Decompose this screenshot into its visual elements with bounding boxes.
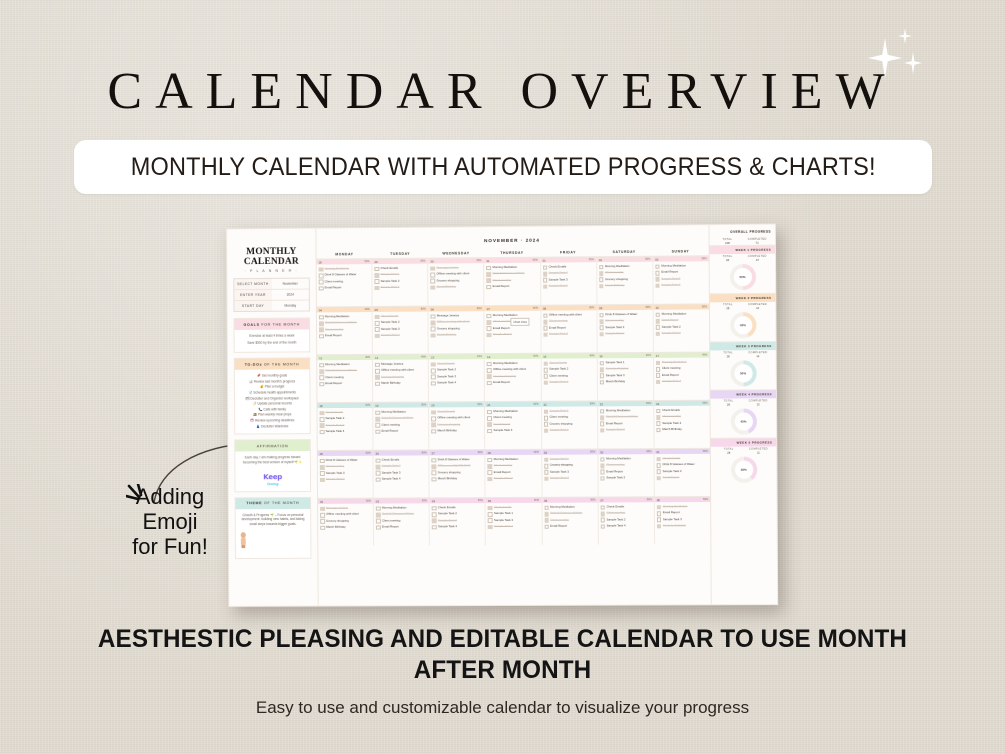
- task-checkbox[interactable]: [432, 458, 437, 463]
- task-item[interactable]: Sample Task 4: [375, 333, 426, 339]
- task-checkbox[interactable]: [487, 285, 492, 290]
- task-item[interactable]: Client meeting: [487, 415, 538, 420]
- calendar-preview-card[interactable]: MONTHLY CALENDAR · P L A N N E R · SELEC…: [226, 224, 778, 607]
- task-checkbox[interactable]: [487, 374, 492, 379]
- task-checkbox[interactable]: [543, 313, 548, 318]
- task-checkbox[interactable]: [375, 315, 380, 320]
- task-item[interactable]: Sample Task 3: [656, 469, 707, 474]
- calendar-day-cell[interactable]: 2450%Check EmailsClient meetingSample Ta…: [654, 401, 710, 448]
- task-checkbox[interactable]: [376, 513, 381, 518]
- task-item[interactable]: Sample Task 2: [543, 331, 594, 337]
- task-checkbox[interactable]: [544, 457, 549, 462]
- task-checkbox[interactable]: [600, 511, 605, 516]
- task-checkbox[interactable]: [319, 286, 324, 291]
- task-item[interactable]: Client meeting: [656, 366, 707, 372]
- task-checkbox[interactable]: [487, 381, 492, 386]
- task-item[interactable]: Grocery shopping: [431, 278, 482, 284]
- task-checkbox[interactable]: [431, 416, 436, 421]
- task-checkbox[interactable]: [487, 333, 492, 338]
- task-checkbox[interactable]: [431, 429, 436, 434]
- calendar-day-cell[interactable]: 0350%Morning MeditationDrink 8 Glasses o…: [374, 498, 430, 545]
- task-checkbox[interactable]: [432, 471, 437, 476]
- task-item[interactable]: Grocery shopping: [600, 366, 651, 372]
- task-item[interactable]: Sample Task 3: [600, 427, 651, 432]
- task-item[interactable]: Sample Task 4: [488, 476, 539, 481]
- task-checkbox[interactable]: [487, 362, 492, 367]
- task-item[interactable]: Sample Task 3: [655, 276, 706, 282]
- task-item[interactable]: Sample Task 3: [488, 518, 539, 523]
- task-checkbox[interactable]: [430, 266, 435, 271]
- form-value[interactable]: 2024: [272, 290, 309, 300]
- task-checkbox[interactable]: [600, 380, 605, 385]
- task-item[interactable]: Sample Task 4: [544, 428, 595, 433]
- task-item[interactable]: Check Emails: [600, 504, 651, 509]
- task-item[interactable]: Sample Task 2: [320, 416, 371, 421]
- task-checkbox[interactable]: [488, 477, 493, 482]
- task-checkbox[interactable]: [655, 277, 660, 282]
- task-checkbox[interactable]: [319, 369, 324, 374]
- task-checkbox[interactable]: [487, 416, 492, 421]
- task-checkbox[interactable]: [600, 470, 605, 475]
- task-item[interactable]: Sample Task 4: [320, 477, 371, 482]
- task-item[interactable]: Sample Task 2: [656, 421, 707, 427]
- task-item[interactable]: Morning Meditation: [319, 362, 370, 368]
- task-item[interactable]: Check Emails: [374, 266, 425, 272]
- task-item[interactable]: Check Emails: [543, 360, 594, 366]
- task-checkbox[interactable]: [600, 422, 605, 427]
- task-checkbox[interactable]: [376, 465, 381, 470]
- goal-item[interactable]: Save $500 by the end of the month: [238, 341, 307, 346]
- form-value[interactable]: Monday: [272, 301, 309, 311]
- task-item[interactable]: Morning Meditation: [656, 360, 707, 366]
- calendar-day-cell[interactable]: 1950%Morning MeditationDrink 8 Glasses o…: [373, 402, 429, 449]
- task-checkbox[interactable]: [319, 273, 324, 278]
- task-checkbox[interactable]: [320, 471, 325, 476]
- task-item[interactable]: Offline meeting with client: [487, 367, 538, 373]
- calendar-day-cell[interactable]: 1140%Morning MeditationDrink 8 Glasses o…: [317, 355, 373, 402]
- task-item[interactable]: Grocery shopping: [431, 326, 482, 332]
- task-checkbox[interactable]: [432, 512, 437, 517]
- task-item[interactable]: Sample Task 4: [375, 285, 426, 291]
- todo-item[interactable]: 📌 Set monthly goals: [238, 374, 307, 378]
- goal-item[interactable]: Exercise at least 4 times a week: [238, 333, 307, 338]
- todo-item[interactable]: ⏰ Review upcoming deadlines: [238, 418, 307, 422]
- task-item[interactable]: Sample Task 4: [488, 524, 539, 529]
- task-item[interactable]: Grocery shopping: [544, 463, 595, 468]
- task-item[interactable]: Sample Task 3: [544, 469, 595, 474]
- calendar-day-cell[interactable]: 2350%Morning MeditationDrink 8 Glasses o…: [598, 401, 655, 448]
- task-checkbox[interactable]: [432, 519, 437, 524]
- task-checkbox[interactable]: [430, 273, 435, 278]
- task-checkbox[interactable]: [544, 476, 549, 481]
- calendar-day-cell[interactable]: 2660%Check EmailsSample Task 2Sample Tas…: [374, 450, 430, 497]
- task-item[interactable]: Drink 8 Glasses of Water: [544, 511, 595, 516]
- task-checkbox[interactable]: [431, 314, 436, 319]
- task-item[interactable]: Grocery shopping: [599, 277, 650, 283]
- calendar-day-cell[interactable]: 0860%Offline meeting with clientClient m…: [541, 305, 598, 352]
- task-item[interactable]: Grocery shopping: [657, 523, 708, 528]
- task-checkbox[interactable]: [657, 476, 662, 481]
- task-checkbox[interactable]: [375, 423, 380, 428]
- calendar-day-cell[interactable]: 2050%Check EmailsOffline meeting with cl…: [429, 402, 485, 449]
- task-checkbox[interactable]: [656, 319, 661, 324]
- task-checkbox[interactable]: [319, 382, 324, 387]
- task-checkbox[interactable]: [599, 265, 604, 270]
- task-checkbox[interactable]: [376, 506, 381, 511]
- task-item[interactable]: Drink 8 Glasses of Water: [319, 272, 370, 278]
- task-item[interactable]: Morning Meditation: [487, 361, 538, 367]
- task-checkbox[interactable]: [487, 278, 492, 283]
- task-checkbox[interactable]: [487, 266, 492, 271]
- task-item[interactable]: Check Emails: [376, 457, 427, 462]
- task-checkbox[interactable]: [376, 525, 381, 530]
- task-item[interactable]: Sample Task 4: [543, 380, 594, 386]
- task-checkbox[interactable]: [375, 429, 380, 434]
- task-checkbox[interactable]: [375, 279, 380, 284]
- task-item[interactable]: Morning Meditation: [599, 264, 650, 270]
- task-item[interactable]: Sample Task 2: [431, 368, 482, 374]
- task-item[interactable]: Check Emails: [319, 410, 370, 415]
- calendar-day-cell[interactable]: 0750%Check EmailsClient meetingSample Ta…: [598, 497, 655, 544]
- task-item[interactable]: Offline meeting with client: [431, 415, 482, 420]
- task-item[interactable]: Offline meeting with client: [432, 463, 483, 468]
- task-item[interactable]: Grocery shopping: [487, 373, 538, 379]
- calendar-day-cell[interactable]: 1640%Sample Task 1Grocery shoppingSample…: [597, 353, 654, 400]
- task-checkbox[interactable]: [487, 410, 492, 415]
- task-item[interactable]: Client meeting: [320, 464, 371, 469]
- task-checkbox[interactable]: [431, 423, 436, 428]
- task-checkbox[interactable]: [656, 421, 661, 426]
- calendar-day-cell[interactable]: 2960%Sample Task 1Grocery shoppingSample…: [542, 449, 599, 496]
- task-checkbox[interactable]: [320, 423, 325, 428]
- calendar-day-cell[interactable]: 3050%Message JessicaOffline meeting with…: [428, 258, 484, 305]
- calendar-day-cell[interactable]: 0550%Check EmailsSample Task 1Sample Tas…: [486, 498, 542, 545]
- task-item[interactable]: Email Report: [488, 470, 539, 475]
- task-item[interactable]: Email Report: [600, 469, 651, 474]
- todo-item[interactable]: 🍱 Plan weekly meal preps: [238, 413, 307, 417]
- task-checkbox[interactable]: [487, 368, 492, 373]
- task-checkbox[interactable]: [431, 333, 436, 338]
- calendar-day-cell[interactable]: 1440%Morning MeditationOffline meeting w…: [485, 354, 541, 401]
- task-item[interactable]: Drink 8 Glasses of Water: [319, 368, 370, 374]
- task-item[interactable]: Email Report: [656, 372, 707, 378]
- task-checkbox[interactable]: [319, 315, 324, 320]
- calendar-day-cell[interactable]: 3150%Morning MeditationDrink 8 Glasses o…: [484, 258, 540, 305]
- task-checkbox[interactable]: [488, 464, 493, 469]
- task-checkbox[interactable]: [488, 506, 493, 511]
- task-checkbox[interactable]: [431, 327, 436, 332]
- task-checkbox[interactable]: [375, 369, 380, 374]
- task-checkbox[interactable]: [320, 478, 325, 483]
- task-checkbox[interactable]: [656, 367, 661, 372]
- task-item[interactable]: Email Report: [487, 422, 538, 427]
- task-checkbox[interactable]: [488, 458, 493, 463]
- task-item[interactable]: Sample Task 3: [320, 470, 371, 475]
- task-checkbox[interactable]: [600, 524, 605, 529]
- calendar-day-cell[interactable]: 2950%Check EmailsSample Task 1Sample Tas…: [372, 259, 428, 306]
- task-item[interactable]: Sample Task 2: [432, 511, 483, 516]
- calendar-day-cell[interactable]: 0450%Check EmailsSample Task 2Sample Tas…: [430, 498, 486, 545]
- task-item[interactable]: Email Report: [319, 381, 370, 387]
- task-checkbox[interactable]: [543, 332, 548, 337]
- task-item[interactable]: Grocery shopping: [544, 421, 595, 426]
- task-checkbox[interactable]: [432, 525, 437, 530]
- task-checkbox[interactable]: [375, 417, 380, 422]
- task-item[interactable]: Sample Task 4: [432, 524, 483, 529]
- calendar-day-cell[interactable]: 1340%Check EmailsSample Task 2Sample Tas…: [429, 354, 485, 401]
- task-checkbox[interactable]: [656, 415, 661, 420]
- calendar-day-cell[interactable]: 1540%Check EmailsSample Task 2Client mee…: [541, 353, 598, 400]
- task-checkbox[interactable]: [656, 409, 661, 414]
- task-item[interactable]: Email Report: [487, 284, 538, 290]
- task-checkbox[interactable]: [600, 374, 605, 379]
- task-checkbox[interactable]: [600, 409, 605, 414]
- task-item[interactable]: March Birthday: [375, 381, 426, 387]
- task-checkbox[interactable]: [599, 361, 604, 366]
- calendar-day-cell[interactable]: 1060%Morning MeditationEmail ReportSampl…: [653, 304, 709, 352]
- task-item[interactable]: Sample Task 2: [656, 324, 707, 330]
- task-checkbox[interactable]: [544, 416, 549, 421]
- task-item[interactable]: Sample Task 4: [656, 331, 707, 337]
- task-checkbox[interactable]: [488, 429, 493, 434]
- task-checkbox[interactable]: [657, 511, 662, 516]
- task-item[interactable]: Grocery shopping: [431, 422, 482, 427]
- task-checkbox[interactable]: [543, 320, 548, 325]
- calendar-day-cell[interactable]: 0760%Morning MeditationClient meetingEma…: [485, 306, 541, 353]
- task-checkbox[interactable]: [320, 417, 325, 422]
- task-item[interactable]: March Birthday: [600, 379, 651, 385]
- task-checkbox[interactable]: [375, 382, 380, 387]
- task-item[interactable]: Drink 8 Glasses of Water: [320, 458, 371, 463]
- calendar-day-cell[interactable]: 0650%Morning MeditationDrink 8 Glasses o…: [542, 498, 599, 545]
- calendar-day-cell[interactable]: 0250%Morning MeditationClient meetingGro…: [597, 257, 654, 305]
- calendar-day-cell[interactable]: 2760%Drink 8 Glasses of WaterOffline mee…: [430, 450, 486, 497]
- task-checkbox[interactable]: [544, 409, 549, 414]
- task-item[interactable]: Drink 8 Glasses of Water: [600, 414, 651, 420]
- task-checkbox[interactable]: [656, 325, 661, 330]
- task-item[interactable]: Check Emails: [656, 456, 707, 461]
- task-checkbox[interactable]: [319, 280, 324, 285]
- task-item[interactable]: Sample Task 4: [487, 332, 538, 338]
- task-item[interactable]: Sample Task 3: [600, 373, 651, 379]
- task-item[interactable]: Client meeting: [656, 414, 707, 420]
- task-item[interactable]: Sample Task 1: [544, 408, 595, 414]
- task-item[interactable]: Drink 8 Glasses of Water: [656, 462, 707, 467]
- task-checkbox[interactable]: [600, 518, 605, 523]
- task-item[interactable]: Check Emails: [656, 408, 707, 414]
- task-item[interactable]: Drink 8 Glasses of Water: [376, 512, 427, 517]
- task-item[interactable]: March Birthday: [599, 283, 650, 289]
- task-checkbox[interactable]: [655, 271, 660, 276]
- task-item[interactable]: March Birthday: [431, 428, 482, 433]
- task-checkbox[interactable]: [320, 465, 325, 470]
- calendar-day-cell[interactable]: 0560%Check EmailsSample Task 2Sample Tas…: [373, 307, 429, 354]
- task-item[interactable]: Client meeting: [319, 279, 370, 285]
- task-item[interactable]: Sample Task 4: [655, 282, 706, 288]
- task-item[interactable]: Sample Task 4: [544, 476, 595, 481]
- task-checkbox[interactable]: [431, 375, 436, 380]
- task-item[interactable]: Client meeting: [543, 319, 594, 325]
- task-checkbox[interactable]: [544, 512, 549, 517]
- task-item[interactable]: Message Jessica: [431, 313, 482, 319]
- task-checkbox[interactable]: [656, 463, 661, 468]
- task-checkbox[interactable]: [319, 334, 324, 339]
- task-item[interactable]: Email Report: [656, 318, 707, 324]
- calendar-day-cell[interactable]: 2860%Morning MeditationClient meetingEma…: [486, 450, 542, 497]
- task-checkbox[interactable]: [544, 525, 549, 530]
- task-checkbox[interactable]: [375, 273, 380, 278]
- task-checkbox[interactable]: [656, 428, 661, 433]
- calendar-day-cell[interactable]: 1240%Message JessicaOffline meeting with…: [373, 355, 429, 402]
- task-item[interactable]: Email Report: [375, 429, 426, 434]
- task-checkbox[interactable]: [600, 457, 605, 462]
- task-item[interactable]: Message Jessica: [320, 506, 371, 511]
- task-checkbox[interactable]: [319, 328, 324, 333]
- task-checkbox[interactable]: [657, 518, 662, 523]
- task-item[interactable]: Grocery shopping: [320, 518, 371, 523]
- task-item[interactable]: Message Jessica: [430, 265, 481, 271]
- task-checkbox[interactable]: [543, 374, 548, 379]
- calendar-day-cell[interactable]: 2250%Sample Task 1Client meetingGrocery …: [541, 401, 598, 448]
- task-item[interactable]: Drink 8 Glasses of Water: [319, 320, 370, 326]
- task-checkbox[interactable]: [543, 361, 548, 366]
- task-checkbox[interactable]: [320, 430, 325, 435]
- task-checkbox[interactable]: [488, 525, 493, 530]
- task-item[interactable]: Email Report: [655, 270, 706, 276]
- calendar-day-cell[interactable]: 0850%Morning MeditationEmail ReportSampl…: [655, 497, 711, 544]
- calendar-day-cell[interactable]: 2850%Morning MeditationDrink 8 Glasses o…: [317, 259, 373, 306]
- task-item[interactable]: Sample Task 2: [376, 464, 427, 469]
- task-checkbox[interactable]: [599, 271, 604, 276]
- task-checkbox[interactable]: [543, 265, 548, 270]
- task-checkbox[interactable]: [320, 526, 325, 531]
- task-checkbox[interactable]: [375, 327, 380, 332]
- task-checkbox[interactable]: [544, 422, 549, 427]
- task-checkbox[interactable]: [431, 279, 436, 284]
- todo-item[interactable]: 📝 Update personal records: [238, 401, 307, 405]
- calendar-day-cell[interactable]: 0660%Message JessicaOffline meeting with…: [429, 306, 485, 353]
- task-checkbox[interactable]: [488, 518, 493, 523]
- task-checkbox[interactable]: [375, 321, 380, 326]
- task-item[interactable]: Morning Meditation: [657, 504, 708, 509]
- task-item[interactable]: Morning Meditation: [375, 409, 426, 414]
- task-item[interactable]: Client meeting: [599, 318, 650, 324]
- task-checkbox[interactable]: [600, 505, 605, 510]
- todo-item[interactable]: 📊 Review last month's progress: [238, 379, 307, 383]
- task-checkbox[interactable]: [319, 363, 324, 368]
- todo-item[interactable]: 🗂 Declutter and Organize workspace: [238, 396, 307, 400]
- task-item[interactable]: Drink 8 Glasses of Water: [375, 416, 426, 421]
- task-checkbox[interactable]: [657, 524, 662, 529]
- task-checkbox[interactable]: [599, 284, 604, 289]
- task-item[interactable]: Sample Task 3: [376, 470, 427, 475]
- task-item[interactable]: Sample Task 2: [600, 475, 651, 480]
- task-item[interactable]: Sample Task 1: [375, 272, 426, 278]
- task-item[interactable]: Sample Task 4: [488, 428, 539, 433]
- task-item[interactable]: Email Report: [544, 524, 595, 529]
- task-checkbox[interactable]: [600, 415, 605, 420]
- task-item[interactable]: Grocery shopping: [432, 470, 483, 475]
- task-checkbox[interactable]: [487, 422, 492, 427]
- task-item[interactable]: Sample Task 3: [320, 423, 371, 428]
- task-item[interactable]: Grocery shopping: [375, 374, 426, 380]
- task-item[interactable]: Client meeting: [375, 422, 426, 427]
- task-item[interactable]: Sample Task 2: [543, 367, 594, 373]
- task-item[interactable]: March Birthday: [431, 284, 482, 290]
- task-checkbox[interactable]: [544, 470, 549, 475]
- task-checkbox[interactable]: [657, 505, 662, 510]
- task-checkbox[interactable]: [543, 272, 548, 277]
- task-checkbox[interactable]: [543, 380, 548, 385]
- task-checkbox[interactable]: [431, 285, 436, 290]
- calendar-day-cell[interactable]: 0460%Morning MeditationDrink 8 Glasses o…: [317, 307, 373, 354]
- task-item[interactable]: Email Report: [600, 421, 651, 427]
- task-checkbox[interactable]: [543, 368, 548, 373]
- task-checkbox[interactable]: [431, 368, 436, 373]
- form-row[interactable]: SELECT MONTHNovember: [234, 279, 309, 291]
- task-item[interactable]: Morning Meditation: [319, 314, 370, 320]
- task-item[interactable]: Sample Task 4: [599, 331, 650, 337]
- task-item[interactable]: Email Report: [376, 524, 427, 529]
- task-checkbox[interactable]: [431, 320, 436, 325]
- task-item[interactable]: Sample Task 3: [432, 518, 483, 523]
- task-item[interactable]: Client meeting: [319, 327, 370, 333]
- task-item[interactable]: Sample Task 3: [543, 277, 594, 283]
- task-item[interactable]: Check Emails: [431, 409, 482, 414]
- task-item[interactable]: Check Emails: [431, 361, 482, 367]
- task-checkbox[interactable]: [319, 321, 324, 326]
- task-item[interactable]: Offline meeting with client: [375, 368, 426, 374]
- task-checkbox[interactable]: [600, 428, 605, 433]
- task-checkbox[interactable]: [655, 264, 660, 269]
- task-item[interactable]: Offline meeting with client: [543, 312, 594, 318]
- task-item[interactable]: Drink 8 Glasses of Water: [487, 271, 538, 277]
- calendar-day-cell[interactable]: 0960%Drink 8 Glasses of WaterClient meet…: [597, 305, 654, 353]
- task-item[interactable]: Sample Task 3: [375, 326, 426, 332]
- task-item[interactable]: Client meeting: [543, 373, 594, 379]
- calendar-day-cell[interactable]: 1740%Morning MeditationClient meetingEma…: [654, 353, 710, 400]
- todo-item[interactable]: 📞 Calls with family: [238, 407, 307, 411]
- calendar-day-cell[interactable]: 1850%Check EmailsSample Task 2Sample Tas…: [317, 403, 373, 450]
- calendar-day-cell[interactable]: 3060%Morning MeditationClient meetingEma…: [598, 449, 655, 496]
- task-checkbox[interactable]: [319, 267, 324, 272]
- task-item[interactable]: Offline meeting with client: [431, 320, 482, 326]
- task-item[interactable]: Email Report: [657, 510, 708, 515]
- task-item[interactable]: Sample Task 3: [599, 325, 650, 331]
- calendar-day-cell[interactable]: 2150%Morning MeditationClient meetingEma…: [485, 402, 541, 449]
- task-checkbox[interactable]: [656, 312, 661, 317]
- task-item[interactable]: March Birthday: [432, 476, 483, 481]
- form-value[interactable]: November: [271, 279, 308, 289]
- task-item[interactable]: Sample Task 3: [375, 278, 426, 284]
- task-item[interactable]: Morning Meditation: [544, 505, 595, 510]
- task-checkbox[interactable]: [375, 334, 380, 339]
- task-item[interactable]: Client meeting: [544, 517, 595, 522]
- form-row[interactable]: START DAYMonday: [234, 301, 309, 312]
- task-item[interactable]: Check Emails: [432, 505, 483, 510]
- task-item[interactable]: Morning Meditation: [656, 311, 707, 317]
- task-checkbox[interactable]: [599, 313, 604, 318]
- task-item[interactable]: Sample Task 3: [657, 517, 708, 522]
- task-item[interactable]: Morning Meditation: [600, 456, 651, 461]
- task-checkbox[interactable]: [544, 505, 549, 510]
- task-item[interactable]: Sample Task 4: [431, 380, 482, 386]
- task-item[interactable]: Sample Task 4: [543, 283, 594, 289]
- task-checkbox[interactable]: [376, 471, 381, 476]
- task-item[interactable]: Morning Meditation: [488, 457, 539, 462]
- task-item[interactable]: Check Emails: [543, 264, 594, 270]
- task-item[interactable]: Client meeting: [599, 270, 650, 276]
